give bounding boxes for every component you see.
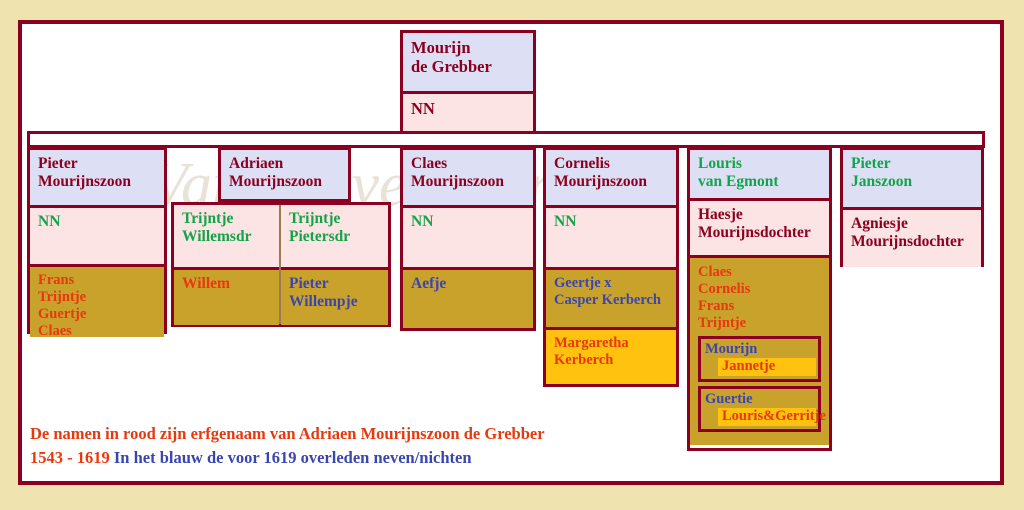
col2-husband-line1: Adriaen	[229, 155, 340, 173]
col6-wife-line1: Agniesje	[851, 215, 973, 233]
col1-husband-line1: Pieter	[38, 155, 156, 173]
root-husband-line1: Mourijn	[411, 38, 525, 57]
nested-child-name: Jannetje	[718, 358, 816, 376]
col3-husband-line2: Mourijnszoon	[411, 173, 525, 191]
legend-line-2: 1543 - 1619 In het blauw de voor 1619 ov…	[30, 446, 710, 470]
sibling-connector-bar	[27, 131, 985, 148]
col2-spouse2-line2: Pietersdr	[289, 228, 380, 246]
col6-wife-cell: Agniesje Mourijnsdochter	[843, 207, 981, 267]
col1-wife-cell: NN	[30, 205, 164, 264]
col1-husband-cell: Pieter Mourijnszoon	[30, 150, 164, 205]
legend-caption: De namen in rood zijn erfgenaam van Adri…	[30, 422, 710, 470]
nested-family-mourijn[interactable]: Mourijn Jannetje	[698, 336, 821, 382]
col5-child: Claes	[698, 264, 821, 281]
col2-spouse1-line2: Willemsdr	[182, 228, 271, 246]
col4-wife-name: NN	[554, 213, 668, 231]
root-husband-line2: de Grebber	[411, 57, 525, 76]
col5-wife-cell: Haesje Mourijnsdochter	[690, 198, 829, 255]
col3-child: Aefje	[411, 275, 525, 293]
col2-spouse1-cell: Trijntje Willemsdr	[174, 205, 279, 267]
col3-husband-line1: Claes	[411, 155, 525, 173]
col5-child: Frans	[698, 298, 821, 315]
col2-spouse1-children-cell: Willem	[174, 267, 279, 325]
col4-child: Casper Kerberch	[554, 292, 668, 309]
col4-wife-cell: NN	[546, 205, 676, 267]
col4-children-cell: Geertje x Casper Kerberch	[546, 267, 676, 327]
col2-spouse1-line1: Trijntje	[182, 210, 271, 228]
col2-husband-cell: Adriaen Mourijnszoon	[221, 150, 348, 199]
nested-parent-name: Guertie	[705, 391, 816, 408]
col5-husband-cell: Louris van Egmont	[690, 150, 829, 198]
col3-children-cell: Aefje	[403, 267, 533, 328]
nested-child-name: Louris&Gerritje	[718, 408, 816, 426]
col4-children-alt-cell: Margaretha Kerberch	[546, 327, 676, 384]
col5-children-cell: Claes Cornelis Frans Trijntje Mourijn Ja…	[690, 255, 829, 445]
col4-child-alt: Margaretha	[554, 335, 668, 352]
col2-spouse2-line1: Trijntje	[289, 210, 380, 228]
adriaen-spouse-1[interactable]: Trijntje Willemsdr Willem	[174, 205, 281, 324]
col5-child: Trijntje	[698, 315, 821, 332]
genealogy-diagram: Van Duivenvoorden Mourijn de Grebber NN …	[0, 0, 1024, 510]
col3-wife-cell: NN	[403, 205, 533, 267]
col3-wife-name: NN	[411, 213, 525, 231]
legend-years: 1543 - 1619	[30, 448, 110, 467]
nested-parent-name: Mourijn	[705, 341, 816, 358]
col1-wife-name: NN	[38, 213, 156, 231]
person-box-cornelis-mourijnszoon[interactable]: Cornelis Mourijnszoon NN Geertje x Caspe…	[543, 147, 679, 387]
legend-blue-text: In het blauw de voor 1619 overleden neve…	[114, 448, 472, 467]
col2-husband-line2: Mourijnszoon	[229, 173, 340, 191]
col5-child: Cornelis	[698, 281, 821, 298]
col2-spouse2-child: Willempje	[289, 293, 380, 311]
legend-line-1: De namen in rood zijn erfgenaam van Adri…	[30, 422, 710, 446]
col2-spouse2-children-cell: Pieter Willempje	[281, 267, 388, 325]
root-wife-cell: NN	[403, 91, 533, 132]
col2-spouse2-child: Pieter	[289, 275, 380, 293]
col1-child: Frans	[38, 272, 156, 289]
person-box-pieter-mourijnszoon[interactable]: Pieter Mourijnszoon NN Frans Trijntje Gu…	[27, 147, 167, 334]
col4-child: Geertje x	[554, 275, 668, 292]
person-box-claes-mourijnszoon[interactable]: Claes Mourijnszoon NN Aefje	[400, 147, 536, 331]
col5-wife-line2: Mourijnsdochter	[698, 224, 821, 242]
legend-red-text: De namen in rood zijn erfgenaam van Adri…	[30, 424, 545, 443]
adriaen-spouses-block: Trijntje Willemsdr Willem Trijntje Piete…	[171, 202, 391, 327]
root-husband-cell: Mourijn de Grebber	[403, 33, 533, 91]
col1-child: Trijntje	[38, 289, 156, 306]
col6-wife-line2: Mourijnsdochter	[851, 233, 973, 251]
root-wife-name: NN	[411, 99, 525, 118]
col2-spouse2-cell: Trijntje Pietersdr	[281, 205, 388, 267]
col1-husband-line2: Mourijnszoon	[38, 173, 156, 191]
col5-wife-line1: Haesje	[698, 206, 821, 224]
col4-child-alt: Kerberch	[554, 352, 668, 369]
col5-husband-line2: van Egmont	[698, 173, 821, 191]
person-box-louris-van-egmont[interactable]: Louris van Egmont Haesje Mourijnsdochter…	[687, 147, 832, 451]
col6-husband-line1: Pieter	[851, 155, 973, 173]
col4-husband-cell: Cornelis Mourijnszoon	[546, 150, 676, 205]
col6-husband-line2: Janszoon	[851, 173, 973, 191]
col2-spouse1-child: Willem	[182, 275, 271, 293]
person-box-pieter-janszoon[interactable]: Pieter Janszoon Agniesje Mourijnsdochter	[840, 147, 984, 267]
person-box-root[interactable]: Mourijn de Grebber NN	[400, 30, 536, 132]
col1-children-cell: Frans Trijntje Guertje Claes	[30, 264, 164, 337]
col1-child: Claes	[38, 323, 156, 340]
col3-husband-cell: Claes Mourijnszoon	[403, 150, 533, 205]
person-box-adriaen-mourijnszoon[interactable]: Adriaen Mourijnszoon	[218, 147, 351, 202]
col4-husband-line2: Mourijnszoon	[554, 173, 668, 191]
col4-husband-line1: Cornelis	[554, 155, 668, 173]
col1-child: Guertje	[38, 306, 156, 323]
adriaen-spouse-2[interactable]: Trijntje Pietersdr Pieter Willempje	[281, 205, 388, 324]
col6-husband-cell: Pieter Janszoon	[843, 150, 981, 207]
col5-husband-line1: Louris	[698, 155, 821, 173]
nested-family-guertie[interactable]: Guertie Louris&Gerritje	[698, 386, 821, 432]
